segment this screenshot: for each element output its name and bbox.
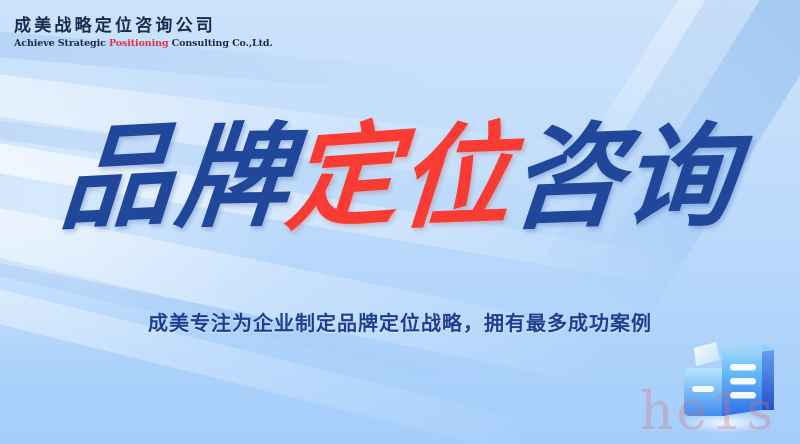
company-name-en: Achieve Strategic Positioning Consulting…	[14, 38, 273, 49]
icon-line-3	[730, 392, 756, 399]
company-name-en-prefix: Achieve Strategic	[14, 38, 109, 49]
company-name-en-highlight: Positioning	[109, 38, 168, 49]
icon-line-1	[730, 364, 756, 371]
icon-side-face	[762, 344, 774, 410]
icon-line-2	[730, 378, 756, 385]
headline-char-3: 定	[283, 118, 408, 238]
company-name-en-suffix: Consulting Co.,Ltd.	[168, 38, 272, 49]
play-triangle-icon	[694, 342, 720, 366]
document-list-icon	[670, 330, 782, 436]
headline-char-5: 咨	[506, 120, 632, 236]
headline-char-2: 牌	[172, 121, 298, 235]
headline-char-4: 位	[395, 120, 519, 236]
company-name-cn: 成美战略定位咨询公司	[14, 18, 273, 36]
headline-char-6: 询	[619, 121, 743, 235]
icon-line-4	[692, 386, 714, 392]
company-logo: 成美战略定位咨询公司 Achieve Strategic Positioning…	[14, 18, 273, 49]
headline-char-1: 品	[57, 119, 181, 237]
page-title: 品牌定位咨询	[0, 122, 800, 234]
brand-positioning-banner: 成美战略定位咨询公司 Achieve Strategic Positioning…	[0, 0, 800, 444]
